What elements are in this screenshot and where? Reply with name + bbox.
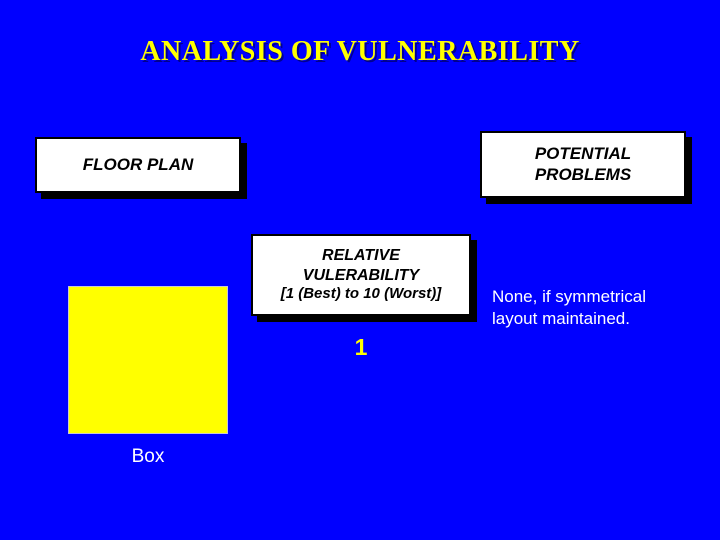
relative-vulnerability-scale-note: [1 (Best) to 10 (Worst)]: [281, 285, 442, 303]
note-line1: None, if symmetrical: [492, 286, 698, 308]
floor-plan-box[interactable]: FLOOR PLAN: [35, 137, 241, 193]
relative-vulnerability-label-line2: VULERABILITY: [303, 266, 419, 286]
slide-canvas: ANALYSIS OF VULNERABILITY FLOOR PLAN POT…: [0, 0, 720, 540]
floor-plan-shape-caption: Box: [68, 446, 228, 468]
page-title: ANALYSIS OF VULNERABILITY: [0, 36, 720, 68]
floor-plan-label: FLOOR PLAN: [83, 155, 194, 176]
floor-plan-shape-box: [68, 286, 228, 434]
relative-vulnerability-label-line1: RELATIVE: [322, 246, 400, 266]
potential-problems-note: None, if symmetrical layout maintained.: [492, 286, 698, 331]
potential-problems-box[interactable]: POTENTIAL PROBLEMS: [480, 131, 686, 198]
potential-problems-label-line2: PROBLEMS: [535, 165, 631, 186]
relative-vulnerability-box[interactable]: RELATIVE VULERABILITY [1 (Best) to 10 (W…: [251, 234, 471, 316]
note-line2: layout maintained.: [492, 308, 698, 330]
potential-problems-label-line1: POTENTIAL: [535, 144, 631, 165]
vulnerability-score-value: 1: [251, 334, 471, 361]
